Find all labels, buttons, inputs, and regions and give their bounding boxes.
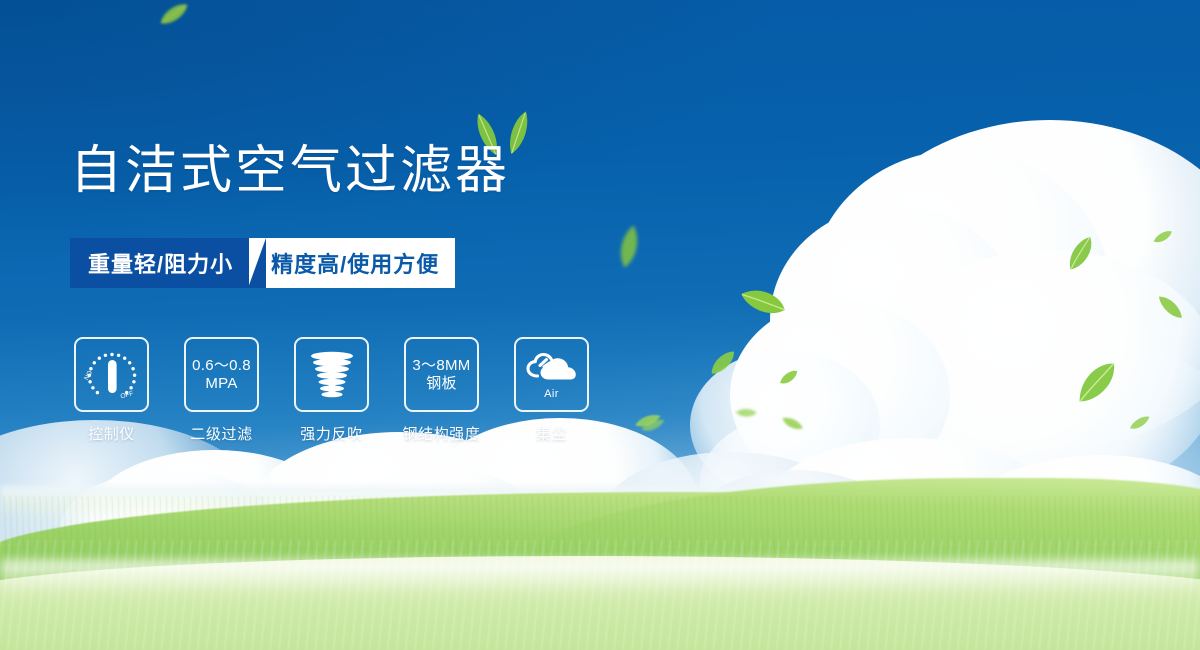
feature-item-pressure[interactable]: 0.6～0.8 MPA 二级过滤	[184, 337, 259, 444]
gauge-label-off: OFF	[119, 390, 134, 400]
filter-cartridge-icon	[306, 348, 358, 402]
feature-item-controller[interactable]: NO OFF 控制仪	[74, 337, 149, 444]
leaf-icon	[633, 414, 662, 429]
feature-item-blowback[interactable]: 强力反吹	[294, 337, 369, 444]
feature-label: 强力反吹	[300, 423, 362, 444]
steel-thickness-text: 3～8MM	[412, 357, 470, 375]
feature-icon-box: 3～8MM 钢板	[404, 337, 479, 412]
feature-label: 集尘	[536, 423, 567, 444]
feature-icon-box: 0.6～0.8 MPA	[184, 337, 259, 412]
feature-item-steel[interactable]: 3～8MM 钢板 钢结构强度	[404, 337, 479, 444]
page-title: 自洁式空气过滤器	[70, 142, 510, 200]
hero-banner: 自洁式空气过滤器 重量轻/阻力小 精度高/使用方便	[0, 0, 1200, 650]
gauge-icon: NO OFF	[83, 348, 141, 402]
feature-item-dust[interactable]: Air 集尘	[514, 337, 589, 444]
grass-texture-near	[0, 540, 1200, 650]
subtitle-left: 重量轻/阻力小	[70, 238, 249, 288]
feature-label: 控制仪	[88, 423, 135, 444]
steel-plate-text: 钢板	[426, 375, 457, 393]
pressure-unit-text: MPA	[205, 375, 237, 393]
feature-label: 二级过滤	[190, 423, 252, 444]
feature-icon-box	[294, 337, 369, 412]
subtitle-bar: 重量轻/阻力小 精度高/使用方便	[70, 238, 462, 288]
feature-list: NO OFF 控制仪 0.6～0.8 MPA 二级过滤	[74, 337, 589, 444]
pressure-text-icon: 0.6～0.8	[192, 357, 251, 375]
air-text: Air	[544, 389, 559, 400]
feature-label: 钢结构强度	[403, 423, 481, 444]
cloud-air-icon	[524, 351, 580, 387]
feature-icon-box: NO OFF	[74, 337, 149, 412]
subtitle-right: 精度高/使用方便	[247, 238, 455, 288]
gauge-label-no: NO	[83, 369, 94, 381]
feature-icon-box: Air	[514, 337, 589, 412]
